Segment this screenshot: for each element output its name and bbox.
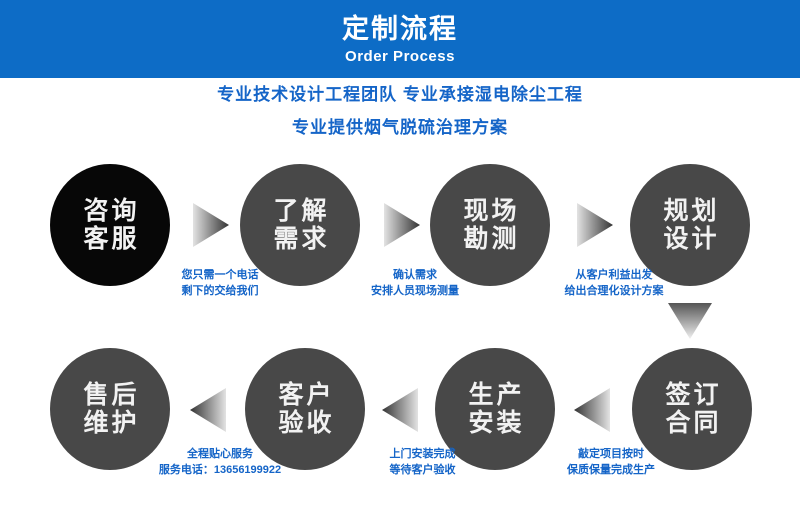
tagline-block: 专业技术设计工程团队 专业承接湿电除尘工程 专业提供烟气脱硫治理方案 xyxy=(0,86,800,136)
step-5-caption: 敲定项目按时 保质保量完成生产 xyxy=(531,447,691,479)
step-1-label-line-2: 客服 xyxy=(80,225,139,253)
step-8-label-line-1: 售后 xyxy=(80,381,139,409)
step-7-caption-line-2: 服务电话：13656199922 xyxy=(120,463,320,479)
step-5-label-line-1: 签订 xyxy=(662,381,721,409)
step-3-caption: 从客户利益出发 给出合理化设计方案 xyxy=(529,268,699,300)
step-3-label-line-2: 勘测 xyxy=(460,225,519,253)
page-title: 定制流程 xyxy=(342,15,458,43)
order-process-infographic: 定制流程 Order Process 专业技术设计工程团队 专业承接湿电除尘工程… xyxy=(0,0,800,509)
step-2-label-line-2: 需求 xyxy=(270,225,329,253)
step-6-caption: 上门安装完成 等待客户验收 xyxy=(345,447,500,479)
page-header: 定制流程 Order Process xyxy=(0,0,800,78)
step-8-label-line-2: 维护 xyxy=(80,409,139,437)
step-6-caption-line-2: 等待客户验收 xyxy=(345,463,500,479)
step-3-label-line-1: 现场 xyxy=(460,197,519,225)
step-2-caption-line-2: 安排人员现场测量 xyxy=(335,284,495,300)
step-5-caption-line-2: 保质保量完成生产 xyxy=(531,463,691,479)
step-2-caption-line-1: 确认需求 xyxy=(335,268,495,284)
tagline-line-2: 专业提供烟气脱硫治理方案 xyxy=(0,119,800,136)
step-1-caption-line-1: 您只需一个电话 xyxy=(140,268,300,284)
step-7-label-line-1: 客户 xyxy=(275,381,334,409)
step-4-label-line-2: 设计 xyxy=(660,225,719,253)
step-1-label-line-1: 咨询 xyxy=(80,197,139,225)
step-5-label-line-2: 合同 xyxy=(662,409,721,437)
step-7-caption: 全程贴心服务 服务电话：13656199922 xyxy=(120,447,320,479)
step-2-label-line-1: 了解 xyxy=(270,197,329,225)
page-subtitle-en: Order Process xyxy=(345,48,455,65)
step-3-caption-line-2: 给出合理化设计方案 xyxy=(529,284,699,300)
step-3-caption-line-1: 从客户利益出发 xyxy=(529,268,699,284)
step-2-caption: 确认需求 安排人员现场测量 xyxy=(335,268,495,300)
step-7-caption-line-1: 全程贴心服务 xyxy=(120,447,320,463)
step-6-caption-line-1: 上门安装完成 xyxy=(345,447,500,463)
step-1-caption-line-2: 剩下的交给我们 xyxy=(140,284,300,300)
step-1-caption: 您只需一个电话 剩下的交给我们 xyxy=(140,268,300,300)
step-4-label-line-1: 规划 xyxy=(660,197,719,225)
step-5-caption-line-1: 敲定项目按时 xyxy=(531,447,691,463)
step-6-label-line-1: 生产 xyxy=(465,381,524,409)
tagline-line-1: 专业技术设计工程团队 专业承接湿电除尘工程 xyxy=(0,86,800,103)
step-6-label-line-2: 安装 xyxy=(465,409,524,437)
step-7-label-line-2: 验收 xyxy=(275,409,334,437)
